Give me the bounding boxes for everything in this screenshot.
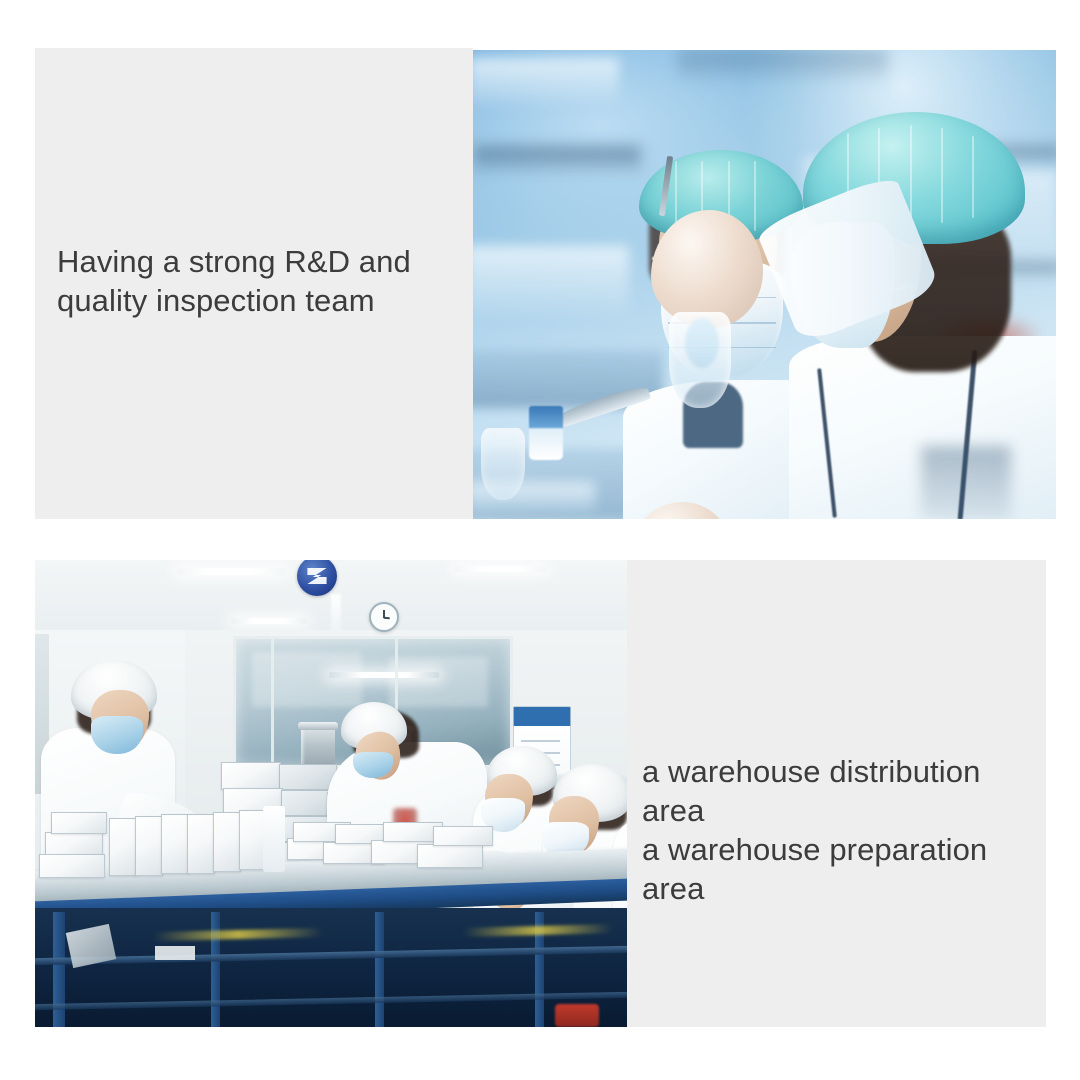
page-canvas: Having a strong R&D and quality inspecti…: [0, 0, 1080, 1080]
reagent-bottle: [529, 406, 563, 460]
lab-glove: [651, 210, 763, 328]
top-caption-text: Having a strong R&D and quality inspecti…: [57, 242, 457, 320]
bottom-caption-text: a warehouse distribution area a warehous…: [642, 752, 1042, 908]
warehouse-packing-photo: [35, 560, 627, 1027]
lab-inspection-photo: [473, 50, 1056, 519]
wall-clock: [369, 602, 399, 632]
